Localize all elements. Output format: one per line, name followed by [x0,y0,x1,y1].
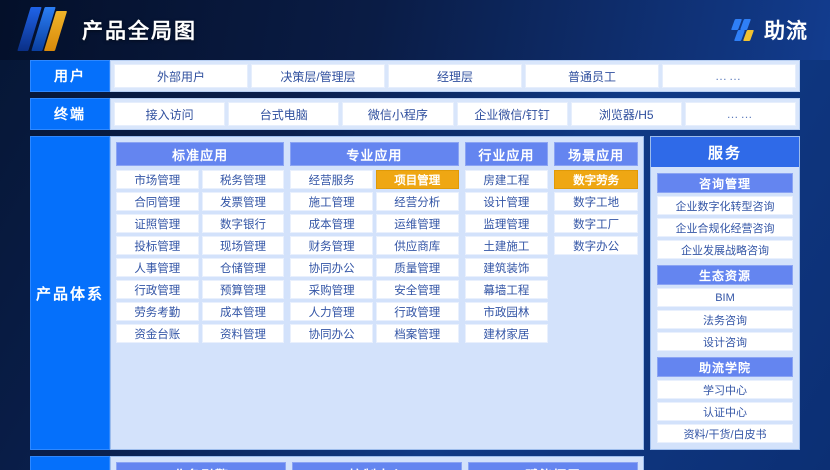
app-cell[interactable]: 行政管理 [376,302,459,321]
row-label-users: 用户 [30,60,110,92]
app-cell[interactable]: 幕墙工程 [465,280,549,299]
region-product-system: 产品体系 标准应用 市场管理 税务管理 合同管理 发票管理 证照管理 数字银行 … [30,136,800,450]
app-cell[interactable]: 施工管理 [290,192,373,211]
panel-title: 专业应用 [290,142,458,166]
app-cell[interactable]: 资料管理 [202,324,285,343]
zhuliu-mark-icon [732,17,758,43]
panel-cells: 经营服务 项目管理 施工管理 经营分析 成本管理 运维管理 财务管理 供应商库 … [290,170,458,444]
panel-cells: 数字劳务 数字工地 数字工厂 数字办公 [554,170,638,444]
app-cell[interactable]: 行政管理 [116,280,199,299]
app-cell[interactable]: 档案管理 [376,324,459,343]
app-cell[interactable]: 现场管理 [202,236,285,255]
app-cell[interactable]: 资金台账 [116,324,199,343]
row-label-terminals: 终端 [30,98,110,130]
panel-title: 业务引擎 [116,462,286,470]
row-label-rd-support: 研发支撑 [30,456,110,470]
app-cell[interactable]: 房建工程 [465,170,549,189]
app-cell[interactable]: 土建施工 [465,236,549,255]
list-item[interactable]: 台式电脑 [228,102,339,126]
panel-title: 赋能拓展 [468,462,638,470]
row-users: 用户 外部用户 决策层/管理层 经理层 普通员工 …… [30,60,800,92]
panel-empowerment: 赋能拓展 智能助理 定时任务 打印模板 提醒设置 关联表单 组件中心 [468,462,638,470]
row-label-product-system: 产品体系 [30,136,110,450]
list-item[interactable]: 经理层 [388,64,522,88]
panel-industry-apps: 行业应用 房建工程 设计管理 监理管理 土建施工 建筑装饰 幕墙工程 市政园林 … [465,142,549,444]
app-cell[interactable]: 财务管理 [290,236,373,255]
brand-name: 助流 [764,15,808,45]
app-cell[interactable]: 投标管理 [116,236,199,255]
service-item[interactable]: 认证中心 [657,402,793,421]
app-cell[interactable]: 运维管理 [376,214,459,233]
service-block-title: 咨询管理 [657,173,793,193]
app-cell[interactable]: 质量管理 [376,258,459,277]
app-cell[interactable]: 建筑装饰 [465,258,549,277]
service-block-title: 助流学院 [657,357,793,377]
user-pill-list: 外部用户 决策层/管理层 经理层 普通员工 …… [110,60,800,92]
service-item[interactable]: 企业数字化转型咨询 [657,196,793,215]
app-cell[interactable]: 经营服务 [290,170,373,189]
service-block-academy: 助流学院 学习中心 认证中心 资料/干货/白皮书 [657,357,793,443]
app-cell[interactable]: 供应商库 [376,236,459,255]
app-cell[interactable]: 采购管理 [290,280,373,299]
app-cell[interactable]: 数字工地 [554,192,638,211]
service-item[interactable]: 法务咨询 [657,310,793,329]
app-cell[interactable]: 劳务考勤 [116,302,199,321]
app-cell[interactable]: 协同办公 [290,324,373,343]
service-item[interactable]: 资料/干货/白皮书 [657,424,793,443]
list-item[interactable]: 决策层/管理层 [251,64,385,88]
app-cell[interactable]: 税务管理 [202,170,285,189]
app-cell[interactable]: 市政园林 [465,302,549,321]
brand-logo: 助流 [732,15,808,45]
app-cell[interactable]: 经营分析 [376,192,459,211]
list-item[interactable]: 微信小程序 [342,102,453,126]
product-panel-group: 标准应用 市场管理 税务管理 合同管理 发票管理 证照管理 数字银行 投标管理 … [110,136,644,450]
panel-standard-apps: 标准应用 市场管理 税务管理 合同管理 发票管理 证照管理 数字银行 投标管理 … [116,142,284,444]
panel-title: 行业应用 [465,142,549,166]
terminal-pill-list: 接入访问 台式电脑 微信小程序 企业微信/钉钉 浏览器/H5 …… [110,98,800,130]
service-item[interactable]: BIM [657,288,793,307]
app-cell[interactable]: 协同办公 [290,258,373,277]
panel-cells: 房建工程 设计管理 监理管理 土建施工 建筑装饰 幕墙工程 市政园林 建材家居 [465,170,549,444]
list-item[interactable]: 企业微信/钉钉 [457,102,568,126]
app-header: 产品全局图 助流 [0,0,830,60]
panel-title: 标准应用 [116,142,284,166]
list-item[interactable]: 接入访问 [114,102,225,126]
list-item[interactable]: 浏览器/H5 [571,102,682,126]
app-cell[interactable]: 数字工厂 [554,214,638,233]
service-item[interactable]: 企业发展战略咨询 [657,240,793,259]
app-cell[interactable]: 仓储管理 [202,258,285,277]
panel-cells: 市场管理 税务管理 合同管理 发票管理 证照管理 数字银行 投标管理 现场管理 … [116,170,284,444]
panel-services-lower-spacer [650,456,800,470]
architecture-diagram: 用户 外部用户 决策层/管理层 经理层 普通员工 …… 终端 接入访问 台式电脑… [0,60,830,470]
app-cell[interactable]: 成本管理 [202,302,285,321]
region-rd-support: 研发支撑 业务引擎 门户引擎 表单引擎 流程引擎 报表引擎 搜索引擎 BI引擎 … [30,456,800,470]
service-title: 服务 [651,137,799,167]
app-cell[interactable]: 人事管理 [116,258,199,277]
list-item[interactable]: 普通员工 [525,64,659,88]
app-cell[interactable]: 监理管理 [465,214,549,233]
app-cell[interactable]: 建材家居 [465,324,549,343]
service-block-ecosystem: 生态资源 BIM 法务咨询 设计咨询 [657,265,793,351]
app-cell[interactable]: 设计管理 [465,192,549,211]
service-body: 咨询管理 企业数字化转型咨询 企业合规化经营咨询 企业发展战略咨询 生态资源 B… [651,167,799,449]
panel-title: 场景应用 [554,142,638,166]
app-cell-highlighted[interactable]: 项目管理 [376,170,459,189]
list-item-more[interactable]: …… [685,102,796,126]
app-cell-highlighted[interactable]: 数字劳务 [554,170,638,189]
service-item[interactable]: 设计咨询 [657,332,793,351]
app-cell[interactable]: 市场管理 [116,170,199,189]
list-item-more[interactable]: …… [662,64,796,88]
app-cell[interactable]: 发票管理 [202,192,285,211]
service-item[interactable]: 企业合规化经营咨询 [657,218,793,237]
app-cell[interactable]: 数字银行 [202,214,285,233]
page-title: 产品全局图 [82,15,197,45]
app-cell[interactable]: 人力管理 [290,302,373,321]
panel-services: 服务 咨询管理 企业数字化转型咨询 企业合规化经营咨询 企业发展战略咨询 生态资… [650,136,800,450]
service-block-title: 生态资源 [657,265,793,285]
app-cell[interactable]: 预算管理 [202,280,285,299]
panel-scenario-apps: 场景应用 数字劳务 数字工地 数字工厂 数字办公 [554,142,638,444]
app-cell[interactable]: 成本管理 [290,214,373,233]
panel-business-engine: 业务引擎 门户引擎 表单引擎 流程引擎 报表引擎 搜索引擎 BI引擎 [116,462,286,470]
slash-logo-icon [22,7,68,53]
list-item[interactable]: 外部用户 [114,64,248,88]
app-cell[interactable]: 安全管理 [376,280,459,299]
app-cell[interactable]: 证照管理 [116,214,199,233]
app-cell[interactable]: 合同管理 [116,192,199,211]
service-block-consulting: 咨询管理 企业数字化转型咨询 企业合规化经营咨询 企业发展战略咨询 [657,173,793,259]
support-panel-group: 业务引擎 门户引擎 表单引擎 流程引擎 报表引擎 搜索引擎 BI引擎 控制中心 … [110,456,644,470]
panel-professional-apps: 专业应用 经营服务 项目管理 施工管理 经营分析 成本管理 运维管理 财务管理 … [290,142,458,444]
panel-title: 控制中心 [292,462,462,470]
row-terminals: 终端 接入访问 台式电脑 微信小程序 企业微信/钉钉 浏览器/H5 …… [30,98,800,130]
panel-control-center: 控制中心 组织架构 权限体系 数据中心 消息通知 移动协作 更多 [292,462,462,470]
app-cell[interactable]: 数字办公 [554,236,638,255]
service-item[interactable]: 学习中心 [657,380,793,399]
